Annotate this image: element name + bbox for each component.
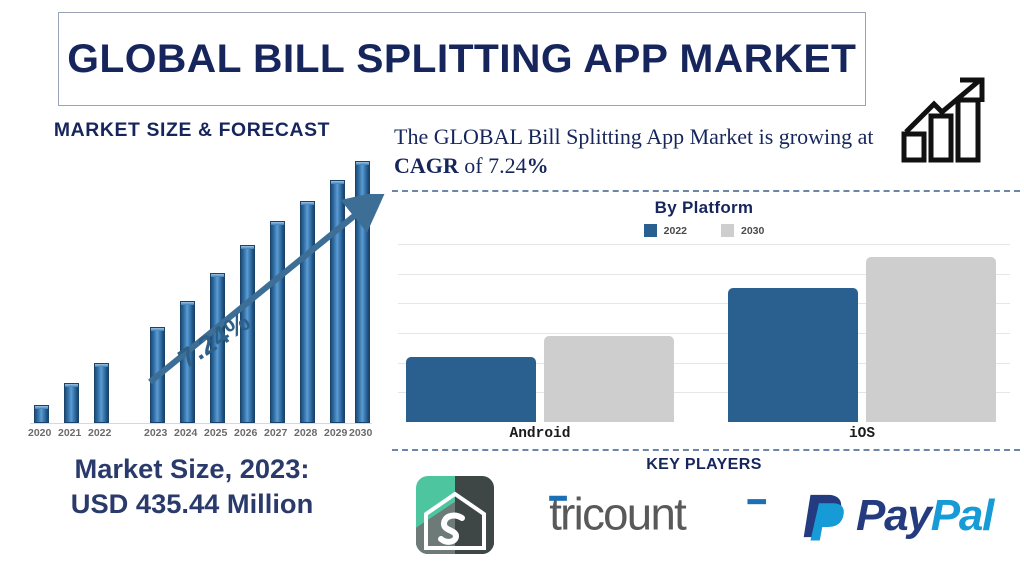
infographic-page: GLOBAL BILL SPLITTING APP MARKET MARKET … xyxy=(0,0,1024,576)
chart-baseline xyxy=(30,423,372,424)
forecast-bar-chart: 7.24% xyxy=(22,154,372,424)
legend-item: 2022 xyxy=(644,224,687,237)
year-label: 2026 xyxy=(234,427,257,439)
forecast-bar xyxy=(34,405,49,423)
market-size-line-2: USD 435.44 Million xyxy=(0,487,386,522)
key-players-logos: tricount PayPal xyxy=(404,476,1024,562)
forecast-bar xyxy=(270,221,285,423)
svg-text:tricount: tricount xyxy=(549,489,687,540)
paypal-wordmark: PayPal xyxy=(856,491,993,541)
forecast-bar xyxy=(355,161,370,423)
tricount-wordmark-icon: tricount xyxy=(542,489,796,543)
legend-label: 2022 xyxy=(664,225,687,237)
platform-bar xyxy=(544,336,674,422)
market-size-panel: MARKET SIZE & FORECAST 7.24% 20202021202… xyxy=(0,112,384,576)
year-label: 2024 xyxy=(174,427,197,439)
platform-panel: The GLOBAL Bill Splitting App Market is … xyxy=(384,112,1024,576)
forecast-bar xyxy=(300,201,315,423)
forecast-bar xyxy=(64,383,79,423)
blurb-mid: of 7.24 xyxy=(459,153,527,178)
divider-top xyxy=(392,190,1020,192)
legend-label: 2030 xyxy=(741,225,764,237)
year-label: 2030 xyxy=(349,427,372,439)
key-players-title: KEY PLAYERS xyxy=(384,456,1024,474)
paypal-mark-icon xyxy=(802,491,846,541)
platform-bar-chart xyxy=(398,244,1010,422)
platform-chart-title: By Platform xyxy=(384,198,1024,218)
platform-legend: 20222030 xyxy=(384,224,1024,237)
page-title: GLOBAL BILL SPLITTING APP MARKET xyxy=(67,37,856,82)
platform-bar xyxy=(728,288,858,422)
year-label: 2021 xyxy=(58,427,81,439)
divider-bottom xyxy=(392,449,1020,451)
forecast-bar xyxy=(150,327,165,423)
platform-category-labels: AndroidiOS xyxy=(398,426,1010,444)
year-label: 2025 xyxy=(204,427,227,439)
platform-bar xyxy=(866,257,996,422)
blurb-pre: The GLOBAL Bill Splitting App Market is … xyxy=(394,124,874,149)
platform-label: iOS xyxy=(728,426,996,442)
gridline xyxy=(398,244,1010,245)
market-size-line-1: Market Size, 2023: xyxy=(0,452,386,487)
year-label: 2027 xyxy=(264,427,287,439)
forecast-bar xyxy=(330,180,345,423)
platform-bar xyxy=(406,357,536,422)
forecast-year-labels: 2020202120222023202420252026202720282029… xyxy=(22,427,374,443)
legend-swatch xyxy=(644,224,657,237)
blurb-cagr: CAGR xyxy=(394,153,459,178)
tricount-logo: tricount xyxy=(542,490,796,542)
splitwise-logo-icon xyxy=(416,476,494,554)
paypal-pal: Pal xyxy=(931,491,993,540)
paypal-pay: Pay xyxy=(856,491,931,540)
year-label: 2029 xyxy=(324,427,347,439)
platform-label: Android xyxy=(406,426,674,442)
blurb-percent: % xyxy=(527,153,549,178)
year-label: 2028 xyxy=(294,427,317,439)
cagr-blurb: The GLOBAL Bill Splitting App Market is … xyxy=(394,122,874,181)
year-label: 2022 xyxy=(88,427,111,439)
paypal-logo: PayPal xyxy=(802,488,993,544)
market-size-heading: MARKET SIZE & FORECAST xyxy=(0,120,388,142)
year-label: 2020 xyxy=(28,427,51,439)
legend-item: 2030 xyxy=(721,224,764,237)
forecast-bar xyxy=(94,363,109,423)
year-label: 2023 xyxy=(144,427,167,439)
legend-swatch xyxy=(721,224,734,237)
title-box: GLOBAL BILL SPLITTING APP MARKET xyxy=(58,12,866,106)
market-size-value: Market Size, 2023: USD 435.44 Million xyxy=(0,452,386,521)
